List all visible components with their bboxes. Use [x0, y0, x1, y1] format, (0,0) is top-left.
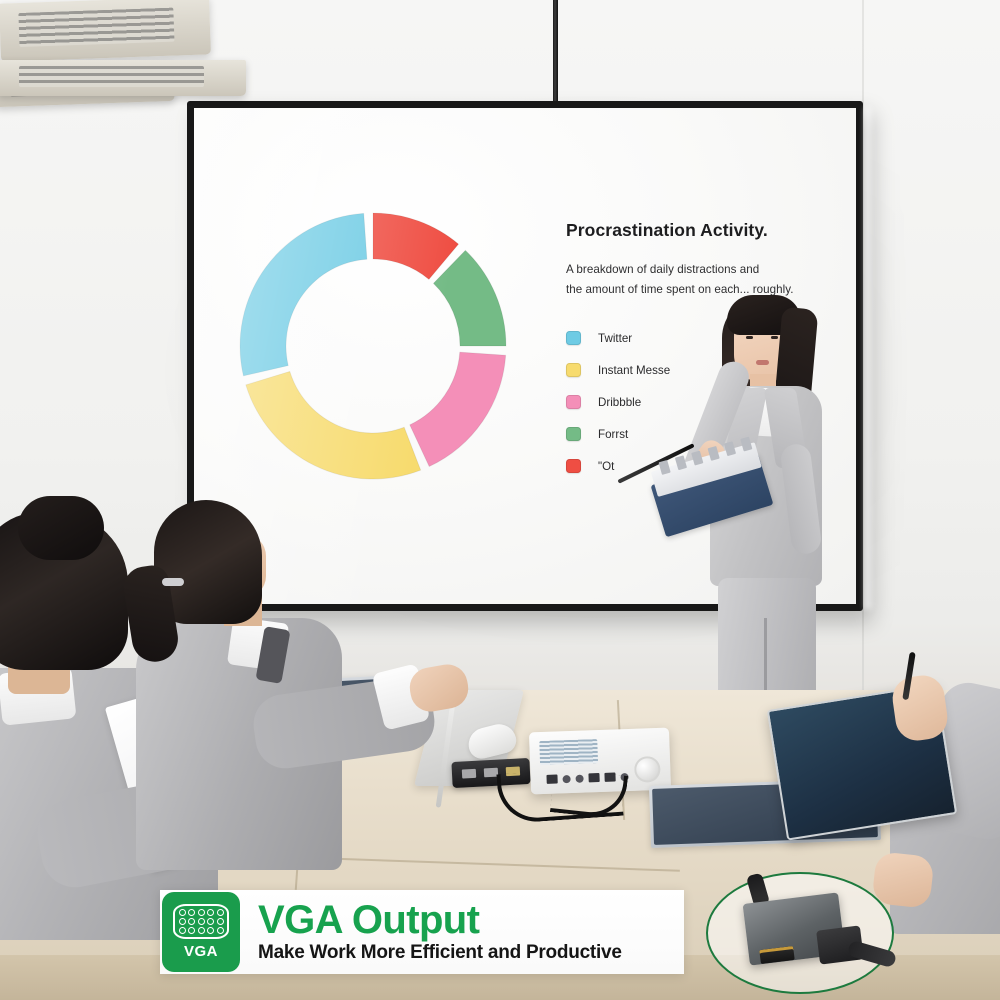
legend-swatch-icon [566, 427, 581, 441]
donut-segment [433, 250, 506, 346]
legend-label: Forrst [598, 428, 628, 441]
legend-swatch-icon [566, 459, 581, 473]
legend-swatch-icon [566, 363, 581, 377]
banner-subtitle: Make Work More Efficient and Productive [258, 942, 622, 964]
legend-label: Instant Messe [598, 364, 670, 377]
legend-label: Twitter [598, 332, 632, 345]
legend-label: "Ot [598, 460, 614, 473]
legend-label: Dribbble [598, 396, 641, 409]
laptop-right-base [0, 60, 246, 96]
vga-connector-icon [173, 904, 229, 939]
seated-person-hair-bun [18, 496, 104, 560]
donut-chart [234, 196, 512, 496]
vga-pin-row [179, 918, 224, 925]
product-highlight [706, 872, 894, 994]
presenter-eye-right [771, 336, 778, 339]
banner-title: VGA Output [258, 900, 622, 941]
laptop-keyboard[interactable] [18, 8, 174, 47]
presenter-mouth [756, 360, 769, 365]
conference-room-scene: Procrastination Activity. A breakdown of… [0, 0, 1000, 1000]
donut-segment [410, 352, 506, 466]
legend-swatch-icon [566, 395, 581, 409]
slide-title: Procrastination Activity. [566, 220, 856, 241]
donut-segment [246, 371, 421, 479]
donut-segment [373, 213, 458, 279]
vga-pin-row [179, 927, 224, 934]
laptop-base-lower [0, 0, 211, 62]
presenter-person [668, 262, 868, 732]
vga-badge-label: VGA [184, 943, 218, 960]
projector-vent [539, 739, 598, 765]
seated-person-back-left [132, 500, 372, 880]
dock-port-icon [462, 769, 476, 779]
folder-papers [651, 442, 762, 497]
seated-person-hair-tie [162, 578, 184, 586]
banner-text-block: VGA Output Make Work More Efficient and … [258, 900, 622, 964]
vga-output-banner: VGA VGA Output Make Work More Efficient … [160, 890, 684, 974]
vga-badge: VGA [162, 892, 240, 972]
laptop-keyboard[interactable] [19, 66, 204, 87]
ceiling-mount-rod [553, 0, 558, 104]
donut-segment [240, 213, 367, 376]
legend-swatch-icon [566, 331, 581, 345]
projector-lens [634, 756, 661, 783]
vga-pin-row [179, 909, 224, 916]
donut-chart-svg [234, 196, 512, 496]
presenter-eye-left [746, 336, 753, 339]
